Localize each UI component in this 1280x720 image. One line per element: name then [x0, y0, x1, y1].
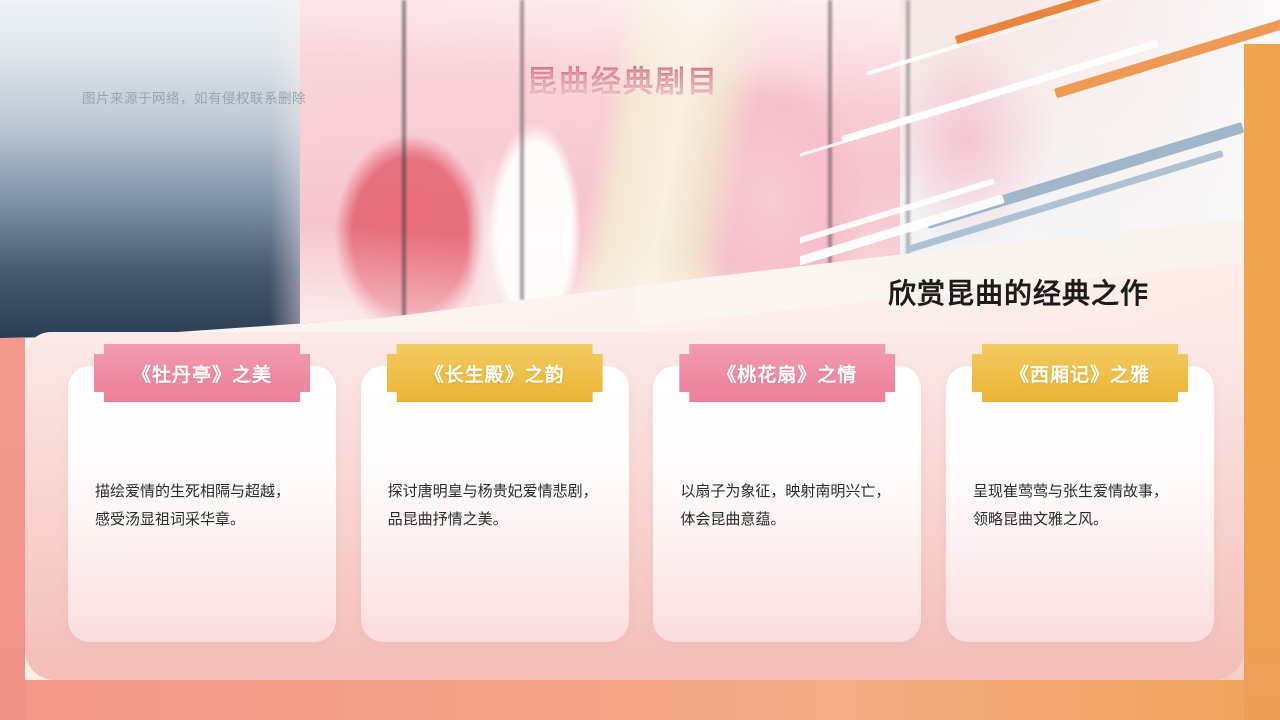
- card-description-line: 以扇子为象征，映射南明兴亡，: [680, 478, 899, 506]
- slide-canvas: 图片来源于网络，如有侵权联系删除 昆曲经典剧目 欣赏昆曲的经典之作 《牡丹亭》之…: [0, 0, 1280, 720]
- card-description-line: 描绘爱情的生死相隔与超越，: [95, 478, 314, 506]
- photo-rod: [520, 0, 524, 300]
- card-description-line: 领略昆曲文雅之风。: [973, 506, 1192, 534]
- card-description: 探讨唐明皇与杨贵妃爱情悲剧， 品昆曲抒情之美。: [388, 478, 607, 534]
- photo-fog-gradient: [0, 0, 330, 340]
- bottom-accent-band: [0, 680, 1280, 720]
- stripe: [926, 122, 1245, 229]
- stripe: [800, 76, 1054, 167]
- card-list: 《牡丹亭》之美 描绘爱情的生死相隔与超越， 感受汤显祖词采华章。 《长生殿》之韵…: [68, 366, 1214, 642]
- stripe: [906, 150, 1224, 253]
- list-item[interactable]: 《西厢记》之雅 呈现崔莺莺与张生爱情故事， 领略昆曲文雅之风。: [946, 366, 1214, 642]
- card-ribbon-title: 《西厢记》之雅: [972, 344, 1188, 402]
- stripe: [866, 0, 1154, 76]
- card-ribbon-title: 《牡丹亭》之美: [94, 344, 310, 402]
- card-ribbon-title: 《桃花扇》之情: [679, 344, 895, 402]
- source-watermark: 图片来源于网络，如有侵权联系删除: [82, 87, 306, 107]
- card-description-line: 体会昆曲意蕴。: [680, 506, 899, 534]
- list-item[interactable]: 《牡丹亭》之美 描绘爱情的生死相隔与超越， 感受汤显祖词采华章。: [68, 366, 336, 642]
- list-item[interactable]: 《长生殿》之韵 探讨唐明皇与杨贵妃爱情悲剧， 品昆曲抒情之美。: [361, 366, 629, 642]
- card-description: 呈现崔莺莺与张生爱情故事， 领略昆曲文雅之风。: [973, 478, 1192, 534]
- diagonal-stripes-decoration: [800, 0, 1280, 300]
- card-ribbon-title: 《长生殿》之韵: [387, 344, 603, 402]
- left-accent-bar: [0, 338, 25, 720]
- right-accent-bar: [1244, 44, 1280, 720]
- stripe: [955, 0, 1245, 48]
- card-description: 描绘爱情的生死相隔与超越， 感受汤显祖词采华章。: [95, 478, 314, 534]
- photo-rod: [402, 0, 406, 340]
- card-description: 以扇子为象征，映射南明兴亡， 体会昆曲意蕴。: [680, 478, 899, 534]
- card-description-line: 品昆曲抒情之美。: [388, 506, 607, 534]
- page-title: 昆曲经典剧目: [527, 57, 719, 101]
- page-subtitle: 欣赏昆曲的经典之作: [888, 272, 1149, 312]
- card-description-line: 感受汤显祖词采华章。: [95, 506, 314, 534]
- card-description-line: 探讨唐明皇与杨贵妃爱情悲剧，: [388, 478, 607, 506]
- list-item[interactable]: 《桃花扇》之情 以扇子为象征，映射南明兴亡， 体会昆曲意蕴。: [653, 366, 921, 642]
- card-description-line: 呈现崔莺莺与张生爱情故事，: [973, 478, 1192, 506]
